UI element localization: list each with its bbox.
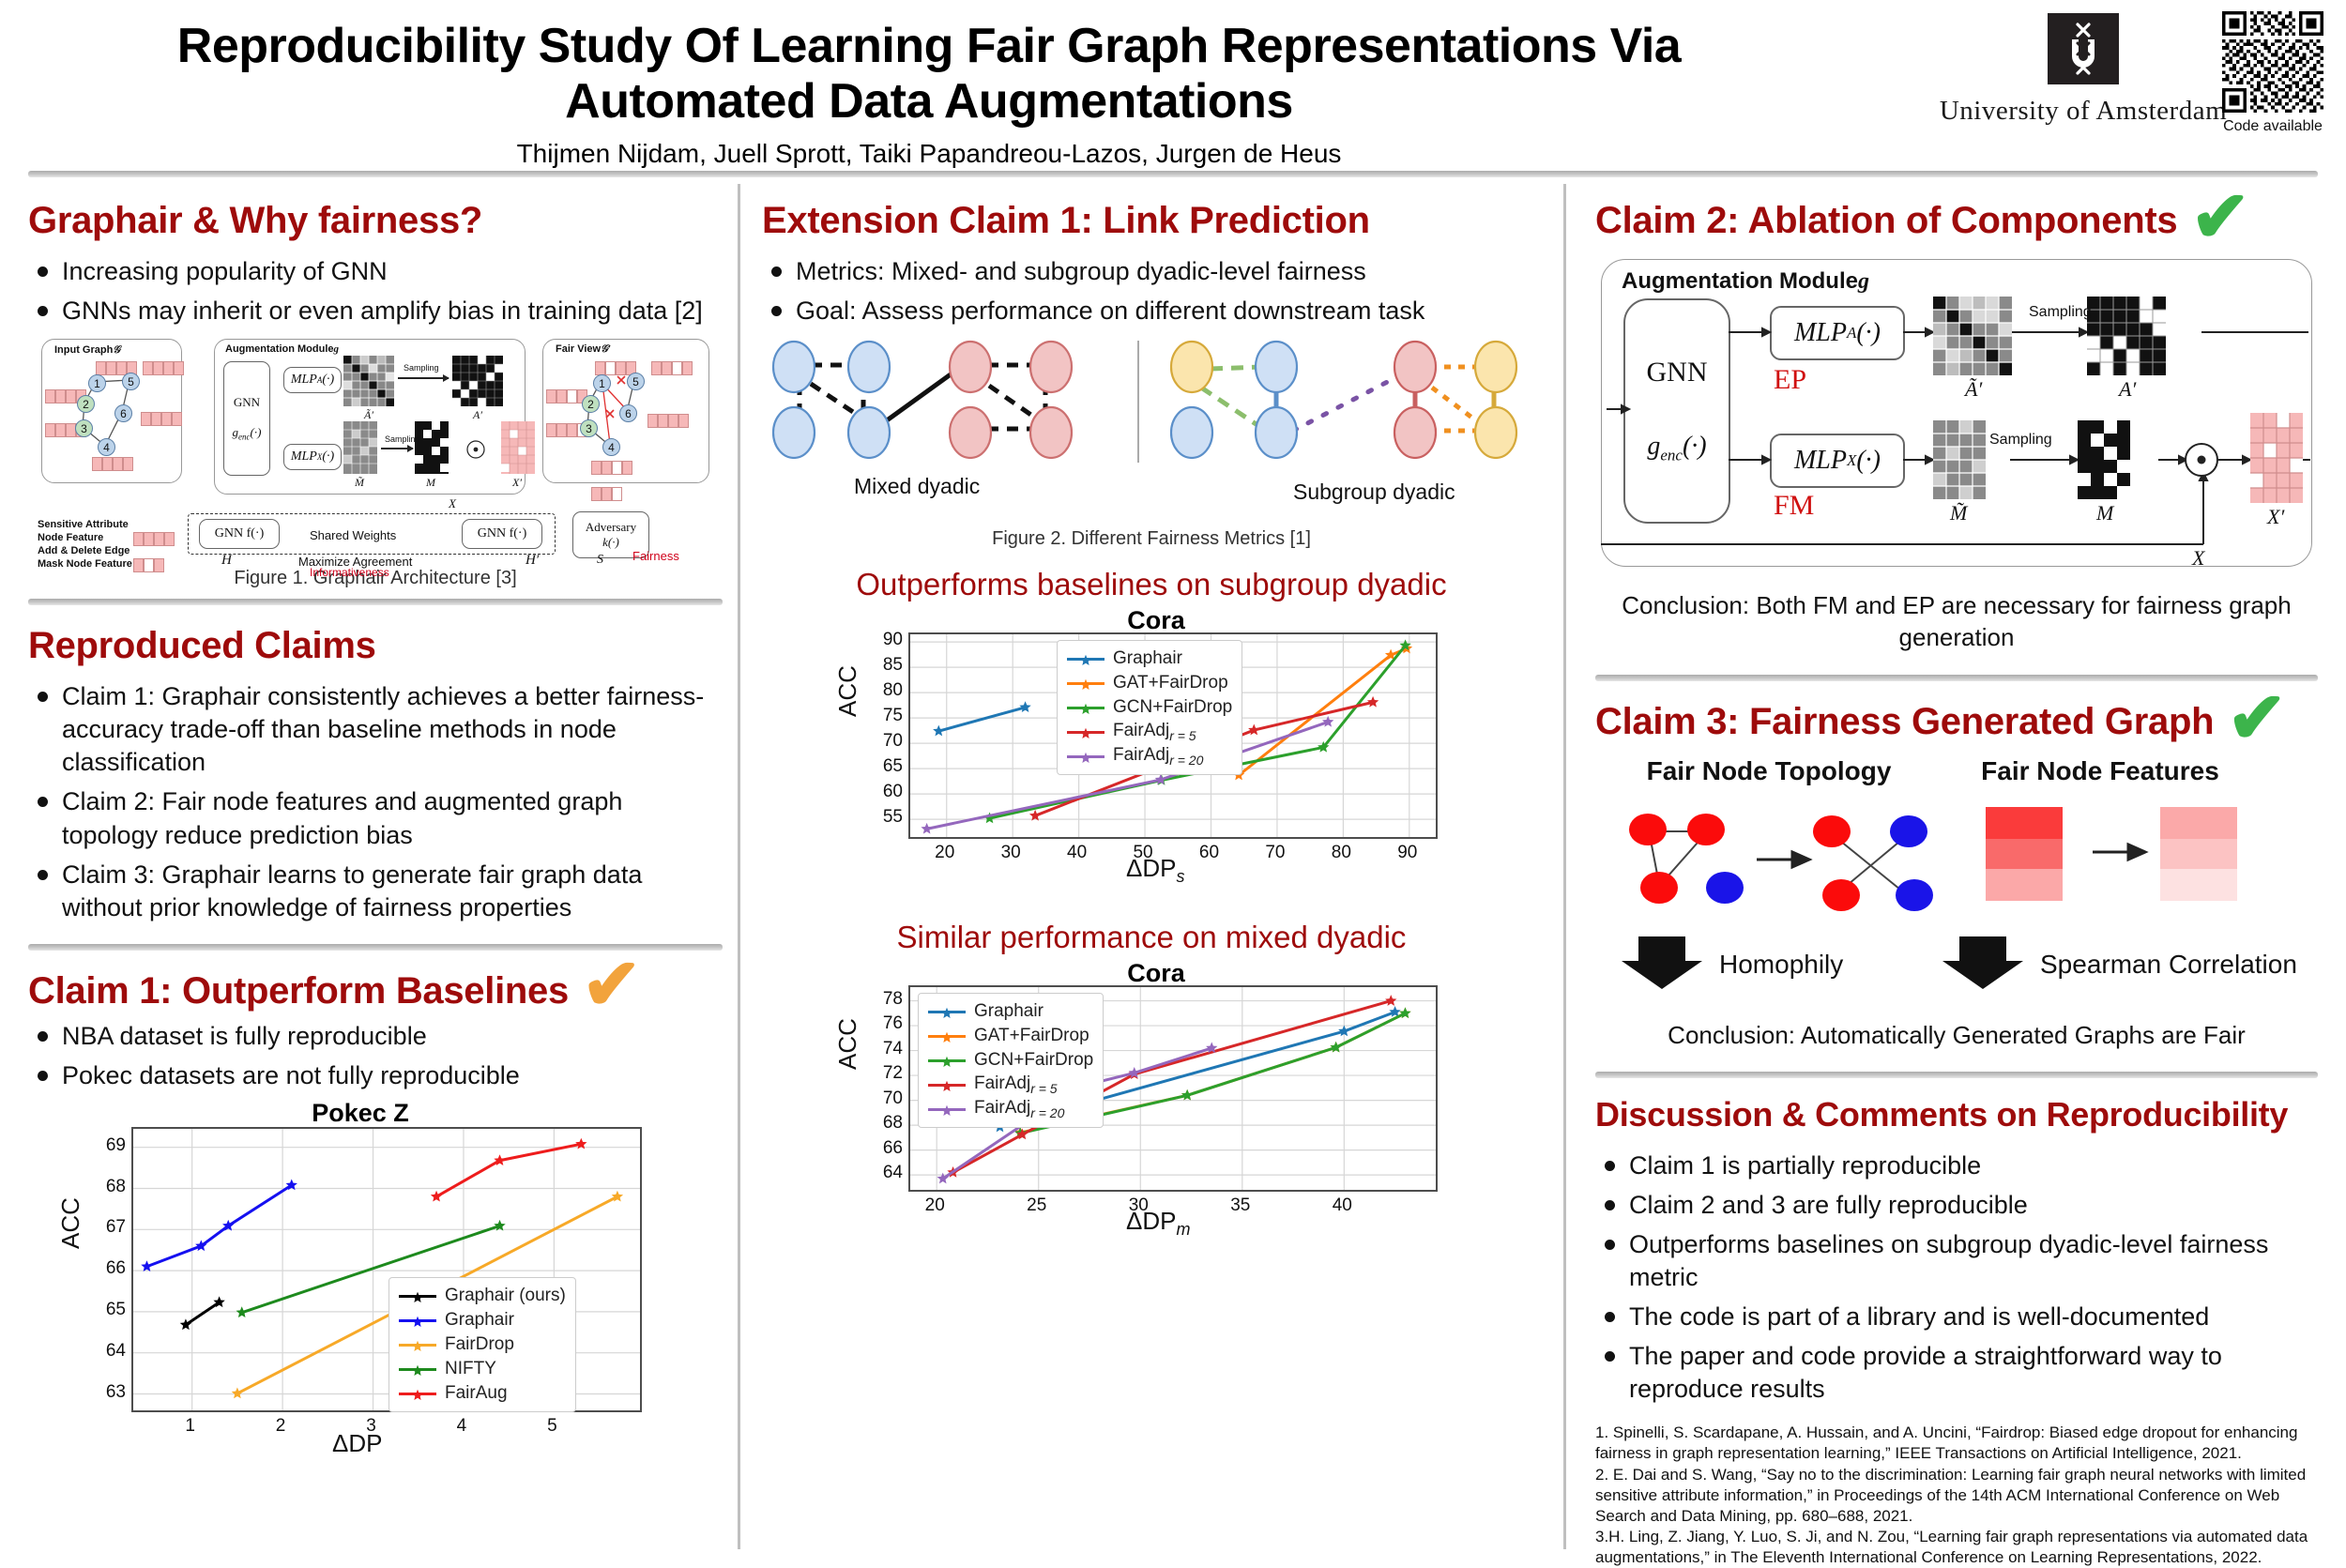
- section-heading-graphair: Graphair & Why fairness?: [28, 201, 482, 240]
- y-tick-label: 67: [94, 1217, 126, 1238]
- y-tick-label: 90: [871, 630, 903, 650]
- fairness-label: Fairness: [632, 549, 679, 563]
- data-point: [1181, 1089, 1193, 1101]
- y-tick-label: 66: [94, 1258, 126, 1279]
- fair-node-features-title: Fair Node Features: [1941, 756, 2260, 786]
- sampling-label-bottom: Sampling: [1989, 432, 2052, 449]
- left-column: Graphair & Why fairness? Increasing popu…: [28, 184, 723, 1465]
- y-tick-label: 85: [871, 655, 903, 676]
- chart-pokec-z: Pokec Z ΔDP ACC 1234563646566676869Graph…: [51, 1099, 670, 1465]
- legend-swatch: [399, 1344, 436, 1347]
- chart-legend: Graphair (ours)GraphairFairDropNIFTYFair…: [388, 1277, 576, 1412]
- section-heading-claim2: Claim 2: Ablation of Components: [1595, 201, 2177, 240]
- bullet-list-claims: Claim 1: Graphair consistently achieves …: [28, 680, 723, 924]
- list-item: Outperforms baselines on subgroup dyadic…: [1629, 1228, 2318, 1294]
- list-item: GNNs may inherit or even amplify bias in…: [62, 295, 723, 327]
- x-tick-label: 60: [1198, 843, 1221, 863]
- data-point: [180, 1318, 191, 1330]
- section-divider-left-1: [28, 599, 723, 605]
- list-item: The paper and code provide a straightfor…: [1629, 1340, 2318, 1406]
- legend-item: Graphair: [399, 1308, 566, 1332]
- poster-header: Reproducibility Study Of Learning Fair G…: [0, 0, 2346, 175]
- gnn-f-right: GNN f(·): [462, 519, 542, 549]
- legend-swatch: [1067, 682, 1104, 685]
- chart-legend: GraphairGAT+FairDropGCN+FairDropFairAdjr…: [1057, 640, 1242, 775]
- legend-item: Graphair (ours): [399, 1284, 566, 1308]
- node-feature-bar: [591, 487, 622, 501]
- x-prime-label: X′: [512, 476, 522, 490]
- section-heading-claim1: Claim 1: Outperform Baselines: [28, 971, 569, 1011]
- augmentation-module-label: Augmentation Moduleg: [225, 343, 339, 355]
- shared-weights-label: Shared Weights: [310, 528, 396, 542]
- legend-item: FairDrop: [399, 1332, 566, 1357]
- section-heading-claim1-row: Claim 1: Outperform Baselines ✔: [28, 954, 723, 1016]
- legend-swatch: [399, 1295, 436, 1298]
- series-line: [186, 1302, 220, 1325]
- qr-code-icon[interactable]: [2222, 11, 2323, 113]
- data-point: [933, 725, 944, 737]
- down-arrow-icon: [1942, 936, 2023, 989]
- section-divider-right-1: [1595, 675, 2318, 681]
- list-item: NBA dataset is fully reproducible: [62, 1020, 723, 1053]
- h-prime-label: H′: [526, 553, 539, 569]
- section-heading-claim3: Claim 3: Fairness Generated Graph: [1595, 702, 2214, 741]
- x-tick-label: 30: [999, 843, 1022, 863]
- legend-swatch: [1067, 755, 1104, 758]
- list-item: Claim 2: Fair node features and augmente…: [62, 785, 723, 851]
- checkmark-icon: ✔: [582, 964, 642, 1007]
- data-point: [232, 1388, 243, 1399]
- legend-item: GCN+FairDrop: [1067, 695, 1232, 720]
- m-tilde-label: M̃: [1950, 501, 1967, 525]
- legend-swatch: [1067, 707, 1104, 709]
- x-tick-label: 5: [541, 1416, 563, 1437]
- data-point: [236, 1306, 248, 1317]
- section-heading-extension: Extension Claim 1: Link Prediction: [762, 201, 1370, 240]
- y-axis-label: ACC: [56, 1197, 85, 1249]
- checkmark-icon: ✔: [2190, 196, 2250, 239]
- y-tick-label: 68: [871, 1113, 903, 1134]
- a-prime-label: A′: [473, 408, 482, 422]
- sampling-label: Sampling: [404, 363, 439, 373]
- x-tick-label: 4: [450, 1416, 473, 1437]
- data-point: [431, 1191, 442, 1202]
- bullet-list-discussion: Claim 1 is partially reproducible Claim …: [1595, 1149, 2318, 1407]
- claim3-graphics: Fair Node Topology Fair Node Features: [1595, 756, 2318, 987]
- legend-mask-node-feature: Mask Node Feature: [38, 558, 132, 570]
- bullet-list-graphair: Increasing popularity of GNN GNNs may in…: [28, 255, 723, 327]
- x-tick-label: 20: [923, 1195, 946, 1216]
- legend-swatch: [1067, 731, 1104, 734]
- legend-label: FairDrop: [445, 1334, 514, 1355]
- y-tick-label: 70: [871, 731, 903, 752]
- reference-item: 2. E. Dai and S. Wang, “Say no to the di…: [1595, 1465, 2318, 1527]
- legend-item: GAT+FairDrop: [1067, 671, 1232, 695]
- homophily-label: Homophily: [1719, 950, 1843, 980]
- chart-cora-subgroup: Cora ΔDPs ACC 20304050607080905560657075…: [828, 606, 1485, 888]
- reference-item: 1. Spinelli, S. Scardapane, A. Hussain, …: [1595, 1423, 2318, 1464]
- legend-item: FairAdjr = 5: [928, 1073, 1093, 1097]
- legend-item: FairAdjr = 20: [1067, 744, 1232, 769]
- bullet-list-extension: Metrics: Mixed- and subgroup dyadic-leve…: [762, 255, 1541, 327]
- a-tilde-label: Ã′: [364, 408, 373, 422]
- legend-swatch: [399, 1393, 436, 1395]
- series-line: [146, 1185, 291, 1267]
- y-tick-label: 68: [94, 1177, 126, 1197]
- title-block: Reproducibility Study Of Learning Fair G…: [122, 8, 1736, 169]
- y-tick-label: 55: [871, 807, 903, 828]
- section-divider-left-2: [28, 944, 723, 951]
- y-tick-label: 65: [871, 756, 903, 777]
- subheading-subgroup-dyadic: Outperforms baselines on subgroup dyadic: [762, 567, 1541, 602]
- m-label: M: [426, 476, 435, 490]
- legend-item: FairAdjr = 20: [928, 1097, 1093, 1121]
- qr-caption: Code available: [2211, 118, 2335, 135]
- figure-2-graphics: [762, 339, 1541, 480]
- y-tick-label: 65: [94, 1300, 126, 1320]
- x-tick-label: 30: [1127, 1195, 1150, 1216]
- legend-label: NIFTY: [445, 1359, 496, 1379]
- figure-2-caption: Figure 2. Different Fairness Metrics [1]: [762, 528, 1541, 550]
- bullet-list-claim1: NBA dataset is fully reproducible Pokec …: [28, 1020, 723, 1092]
- chart-legend: GraphairGAT+FairDropGCN+FairDropFairAdjr…: [918, 993, 1104, 1128]
- legend-label: FairAug: [445, 1383, 508, 1404]
- section-heading-discussion: Discussion & Comments on Reproducibility: [1595, 1097, 2288, 1133]
- chart-title: Cora: [828, 606, 1485, 635]
- section-divider-right-2: [1595, 1072, 2318, 1078]
- legend-node-feature: Node Feature: [38, 532, 103, 543]
- x-tick-label: 40: [1331, 1195, 1353, 1216]
- data-point: [1385, 995, 1396, 1006]
- subheading-mixed-dyadic: Similar performance on mixed dyadic: [762, 920, 1541, 955]
- list-item: Claim 1: Graphair consistently achieves …: [62, 680, 723, 779]
- legend-item: FairAdjr = 5: [1067, 720, 1232, 744]
- claim2-conclusion: Conclusion: Both FM and EP are necessary…: [1618, 589, 2295, 654]
- legend-label: FairAdjr = 5: [974, 1073, 1058, 1096]
- reference-item: 3.H. Ling, Z. Jiang, Y. Luo, S. Ji, and …: [1595, 1527, 2318, 1568]
- y-tick-label: 75: [871, 706, 903, 726]
- a-tilde-label: Ã′: [1965, 377, 1982, 402]
- legend-item: NIFTY: [399, 1357, 566, 1381]
- legend-label: GCN+FairDrop: [1113, 697, 1232, 718]
- legend-swatch: [928, 1011, 966, 1013]
- legend-label: FairAdjr = 5: [1113, 721, 1196, 743]
- legend-add-delete-edge: Add & Delete Edge: [38, 545, 129, 556]
- legend-label: Graphair (ours): [445, 1286, 566, 1306]
- legend-item: FairAug: [399, 1381, 566, 1406]
- y-tick-label: 78: [871, 989, 903, 1010]
- h-label: H: [221, 553, 232, 569]
- x-tick-label: 20: [934, 843, 956, 863]
- x-tick-label: 40: [1066, 843, 1089, 863]
- legend-label: Graphair: [1113, 648, 1182, 669]
- figure-2-fairness-metrics: Mixed dyadic Subgroup dyadic: [762, 339, 1541, 517]
- list-item: Metrics: Mixed- and subgroup dyadic-leve…: [796, 255, 1541, 288]
- informativeness-label: Informativeness: [310, 566, 389, 579]
- legend-item: GAT+FairDrop: [928, 1024, 1093, 1048]
- legend-feature-swatch: [133, 532, 175, 546]
- spearman-label: Spearman Correlation: [2040, 950, 2297, 980]
- claim3-conclusion: Conclusion: Automatically Generated Grap…: [1618, 1019, 2295, 1051]
- y-tick-label: 76: [871, 1013, 903, 1034]
- qr-code-block[interactable]: Code available: [2211, 11, 2335, 135]
- figure-2-right-label: Subgroup dyadic: [1293, 480, 1455, 505]
- data-point: [141, 1260, 152, 1271]
- x-tick-label: 25: [1026, 1195, 1048, 1216]
- a-prime-label: A′: [2119, 377, 2136, 402]
- chart-cora-mixed: Cora ΔDPm ACC 20253035406466687072747678…: [828, 959, 1485, 1241]
- references-list: 1. Spinelli, S. Scardapane, A. Hussain, …: [1595, 1423, 2318, 1568]
- m-tilde-label: M̃: [355, 476, 364, 490]
- sampling-arrow-2: [381, 448, 413, 449]
- right-column: Claim 2: Ablation of Components ✔ Augmen…: [1595, 184, 2318, 1568]
- claim2-augmentation-diagram: Augmentation Moduleg GNN genc(·) MLPA(·)…: [1595, 255, 2318, 574]
- legend-label: Graphair: [445, 1310, 514, 1331]
- list-item: Claim 3: Graphair learns to generate fai…: [62, 859, 723, 924]
- list-item: Increasing popularity of GNN: [62, 255, 723, 288]
- chart-title: Pokec Z: [51, 1099, 670, 1128]
- gnn-f-left: GNN f(·): [199, 519, 280, 549]
- x-tick-label: 50: [1132, 843, 1154, 863]
- y-tick-label: 72: [871, 1063, 903, 1084]
- section-heading-claim3-row: Claim 3: Fairness Generated Graph ✔: [1595, 685, 2318, 753]
- list-item: Claim 1 is partially reproducible: [1629, 1149, 2318, 1182]
- legend-item: GCN+FairDrop: [928, 1048, 1093, 1073]
- y-tick-label: 80: [871, 680, 903, 701]
- down-arrow-icon: [1622, 936, 1702, 989]
- checkmark-icon: ✔: [2227, 697, 2287, 740]
- section-heading-reproduced-claims: Reproduced Claims: [28, 626, 376, 665]
- claim3-diagram: [1595, 794, 2318, 944]
- y-tick-label: 74: [871, 1039, 903, 1059]
- x-tick-label: 70: [1264, 843, 1287, 863]
- page-title: Reproducibility Study Of Learning Fair G…: [122, 8, 1736, 129]
- legend-sensitive-attribute: Sensitive Attribute: [38, 519, 129, 530]
- x-tick-label: 1: [179, 1416, 202, 1437]
- sampling-arrow: [398, 377, 449, 378]
- y-tick-label: 63: [94, 1382, 126, 1403]
- legend-label: FairAdjr = 20: [1113, 745, 1203, 768]
- legend-swatch: [928, 1059, 966, 1062]
- data-point: [1248, 724, 1259, 736]
- input-graph-edges: [28, 335, 188, 485]
- sampling-label-2: Sampling: [385, 434, 420, 444]
- legend-label: Graphair: [974, 1001, 1044, 1022]
- data-point: [921, 823, 932, 834]
- x-tick-label: 35: [1229, 1195, 1252, 1216]
- gnn-encoder-box: GNN genc(·): [223, 361, 270, 476]
- section-heading-claim2-row: Claim 2: Ablation of Components ✔: [1595, 184, 2318, 251]
- list-item: Goal: Assess performance on different do…: [796, 295, 1541, 327]
- x-tick-label: 3: [360, 1416, 383, 1437]
- data-point: [937, 1173, 949, 1184]
- header-divider: [28, 171, 2318, 177]
- x-tick-label: 2: [269, 1416, 292, 1437]
- fair-node-topology-title: Fair Node Topology: [1623, 756, 1914, 786]
- y-tick-label: 64: [871, 1163, 903, 1183]
- legend-swatch: [399, 1368, 436, 1371]
- middle-column: Extension Claim 1: Link Prediction Metri…: [762, 184, 1541, 1241]
- legend-label: GCN+FairDrop: [974, 1050, 1093, 1071]
- x-tick-label: 90: [1396, 843, 1419, 863]
- y-tick-label: 60: [871, 782, 903, 802]
- chart-title: Cora: [828, 959, 1485, 988]
- legend-label: GAT+FairDrop: [974, 1026, 1089, 1046]
- x-prime-label: X′: [2267, 505, 2284, 529]
- legend-label: GAT+FairDrop: [1113, 673, 1228, 693]
- y-tick-label: 69: [94, 1135, 126, 1156]
- mlp-a-box: MLPA(·): [283, 367, 342, 393]
- x-tick-label: 80: [1330, 843, 1352, 863]
- data-point: [1367, 696, 1379, 708]
- y-tick-label: 66: [871, 1138, 903, 1159]
- legend-swatch: [928, 1108, 966, 1111]
- legend-swatch: [399, 1319, 436, 1322]
- column-divider-1: [738, 184, 740, 1549]
- y-tick-label: 70: [871, 1088, 903, 1109]
- figure-1-graphair-architecture: Input Graph𝒢 1 5 2 6 3 4 Augmentation Mo…: [28, 335, 723, 571]
- x-label: X: [2192, 546, 2204, 571]
- sampling-label-top: Sampling: [2029, 304, 2092, 321]
- legend-swatch: [928, 1035, 966, 1038]
- list-item: The code is part of a library and is wel…: [1629, 1301, 2318, 1333]
- legend-item: Graphair: [1067, 647, 1232, 671]
- legend-item: Graphair: [928, 999, 1093, 1024]
- y-axis-label: ACC: [833, 1018, 862, 1070]
- figure-2-left-label: Mixed dyadic: [854, 474, 980, 499]
- author-list: Thijmen Nijdam, Juell Sprott, Taiki Papa…: [122, 139, 1736, 169]
- list-item: Pokec datasets are not fully reproducibl…: [62, 1059, 723, 1092]
- mlp-x-box: MLPX(·): [283, 444, 342, 470]
- x-label: X: [449, 496, 456, 511]
- legend-mask-swatch: [133, 558, 164, 572]
- uva-shield-icon: [2048, 13, 2119, 84]
- column-divider-2: [1563, 184, 1566, 1549]
- m-label: M: [2096, 501, 2113, 525]
- legend-swatch: [928, 1084, 966, 1087]
- list-item: Claim 2 and 3 are fully reproducible: [1629, 1189, 2318, 1222]
- data-point: [1019, 701, 1030, 712]
- legend-swatch: [1067, 658, 1104, 661]
- y-axis-label: ACC: [833, 665, 862, 717]
- legend-label: FairAdjr = 20: [974, 1098, 1064, 1120]
- y-tick-label: 64: [94, 1341, 126, 1362]
- s-label: S: [597, 553, 603, 568]
